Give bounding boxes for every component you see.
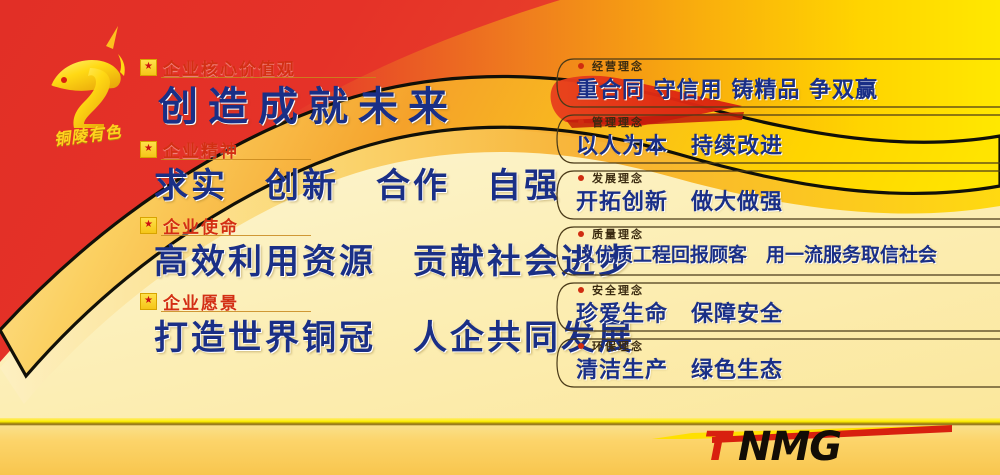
slogan-heading: 企业愿景	[163, 289, 239, 314]
philosophy-item-development: 发展理念 开拓创新 做大做强	[556, 168, 1000, 224]
slogan-heading-row: ★ 企业精神	[140, 138, 540, 160]
slogan-group-mission: ★ 企业使命 高效利用资源 贡献社会进步	[140, 214, 540, 288]
slogan-heading-row: ★ 企业使命	[140, 214, 540, 236]
slogan-heading: 企业核心价值观	[163, 55, 296, 80]
philosophy-heading-row: 环保理念	[578, 339, 644, 353]
slogan-heading: 企业精神	[163, 137, 239, 162]
slogan-body: 求实 创新 合作 自强	[140, 160, 540, 212]
red-dot-icon	[578, 63, 584, 69]
philosophy-body: 以优质工程回报顾客 用一流服务取信社会	[576, 240, 937, 267]
slogan-heading-row: ★ 企业愿景	[140, 290, 540, 312]
star-icon: ★	[140, 59, 157, 76]
philosophy-item-quality: 质量理念 以优质工程回报顾客 用一流服务取信社会	[556, 224, 1000, 280]
philosophy-body: 重合同 守信用 铸精品 争双赢	[576, 72, 878, 104]
heading-underline	[161, 235, 311, 236]
philosophy-heading-row: 发展理念	[578, 171, 644, 185]
tnmg-brand-logo: T NMG	[652, 423, 952, 467]
red-dot-icon	[578, 343, 584, 349]
tnmg-letter-t: T	[704, 424, 734, 467]
philosophy-item-management: 管理理念 以人为本 持续改进	[556, 112, 1000, 168]
red-dot-icon	[578, 287, 584, 293]
star-icon: ★	[140, 217, 157, 234]
philosophy-heading-row: 质量理念	[578, 227, 644, 241]
tnmg-letters-nmg: NMG	[738, 424, 841, 467]
philosophy-item-business: 经营理念 重合同 守信用 铸精品 争双赢	[556, 56, 1000, 112]
philosophy-heading-row: 经营理念	[578, 59, 644, 73]
heading-underline	[161, 159, 311, 160]
heading-underline	[161, 77, 376, 78]
philosophy-body: 开拓创新 做大做强	[576, 184, 783, 216]
right-philosophy-column: 经营理念 重合同 守信用 铸精品 争双赢 管理理念 以人为本 持续改进 发展理念…	[556, 56, 1000, 392]
philosophy-body: 清洁生产 绿色生态	[576, 352, 783, 384]
philosophy-item-safety: 安全理念 珍爱生命 保障安全	[556, 280, 1000, 336]
slogan-body: 创造成就未来	[140, 78, 540, 136]
company-logo: 铜陵有色	[34, 44, 142, 156]
slogan-body: 打造世界铜冠 人企共同发展	[140, 312, 540, 364]
philosophy-body: 以人为本 持续改进	[576, 128, 783, 160]
slogan-group-core-values: ★ 企业核心价值观 创造成就未来	[140, 56, 540, 136]
left-slogan-column: ★ 企业核心价值观 创造成就未来 ★ 企业精神 求实 创新 合作 自强 ★ 企业…	[140, 56, 540, 366]
philosophy-body: 珍爱生命 保障安全	[576, 296, 783, 328]
slogan-body: 高效利用资源 贡献社会进步	[140, 236, 540, 288]
red-dot-icon	[578, 231, 584, 237]
red-dot-icon	[578, 119, 584, 125]
star-icon: ★	[140, 141, 157, 158]
red-dot-icon	[578, 175, 584, 181]
slogan-heading-row: ★ 企业核心价值观	[140, 56, 540, 78]
slogan-group-vision: ★ 企业愿景 打造世界铜冠 人企共同发展	[140, 290, 540, 364]
philosophy-item-environment: 环保理念 清洁生产 绿色生态	[556, 336, 1000, 392]
philosophy-heading-row: 管理理念	[578, 115, 644, 129]
star-icon: ★	[140, 293, 157, 310]
slogan-heading: 企业使命	[163, 213, 239, 238]
tongling-nonferrous-emblem-icon	[34, 44, 142, 128]
philosophy-heading-row: 安全理念	[578, 283, 644, 297]
slogan-group-spirit: ★ 企业精神 求实 创新 合作 自强	[140, 138, 540, 212]
heading-underline	[161, 311, 311, 312]
poster-canvas: 铜陵有色 ★ 企业核心价值观 创造成就未来 ★ 企业精神 求实 创新 合作 自强…	[0, 0, 1000, 475]
